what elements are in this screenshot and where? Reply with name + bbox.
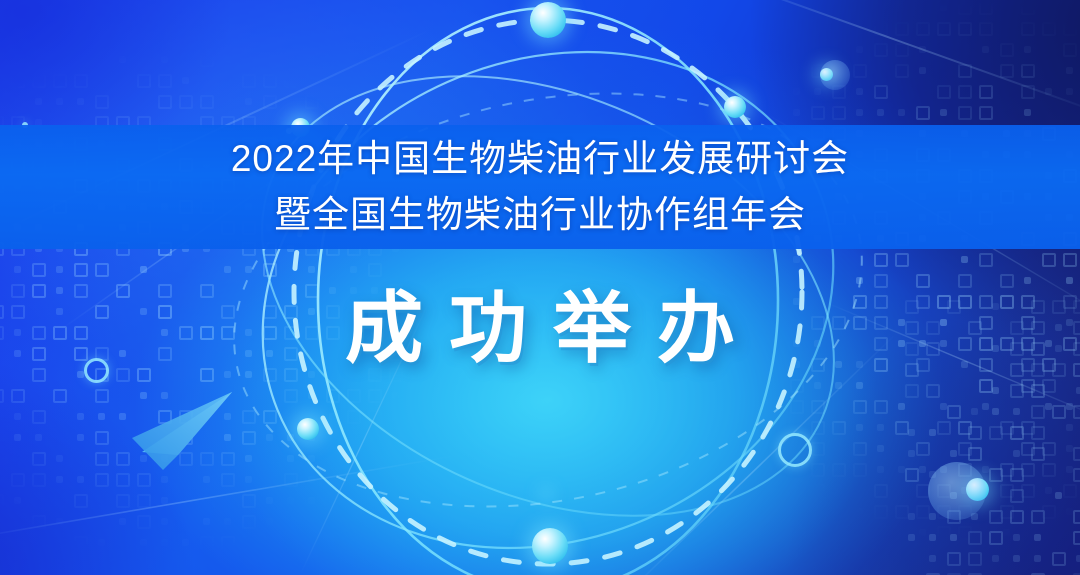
orbit-node-bottom (532, 528, 568, 564)
ring-circle-bottom-right (778, 433, 812, 467)
soft-circle-bottom-right (928, 462, 986, 520)
headline-text: 成功举办 (0, 272, 1080, 372)
orbit-node-lower-left (297, 418, 319, 440)
orbit-node-top (530, 2, 566, 38)
title-line-2: 暨全国生物柴油行业协作组年会 (274, 188, 806, 242)
soft-circle-top-right (820, 60, 850, 90)
title-block: 2022年中国生物柴油行业发展研讨会 暨全国生物柴油行业协作组年会 (0, 125, 1080, 249)
poster-canvas: 2022年中国生物柴油行业发展研讨会 暨全国生物柴油行业协作组年会 成功举办 (0, 0, 1080, 575)
orbit-node-upper-right (724, 96, 746, 118)
title-line-1: 2022年中国生物柴油行业发展研讨会 (231, 132, 849, 186)
